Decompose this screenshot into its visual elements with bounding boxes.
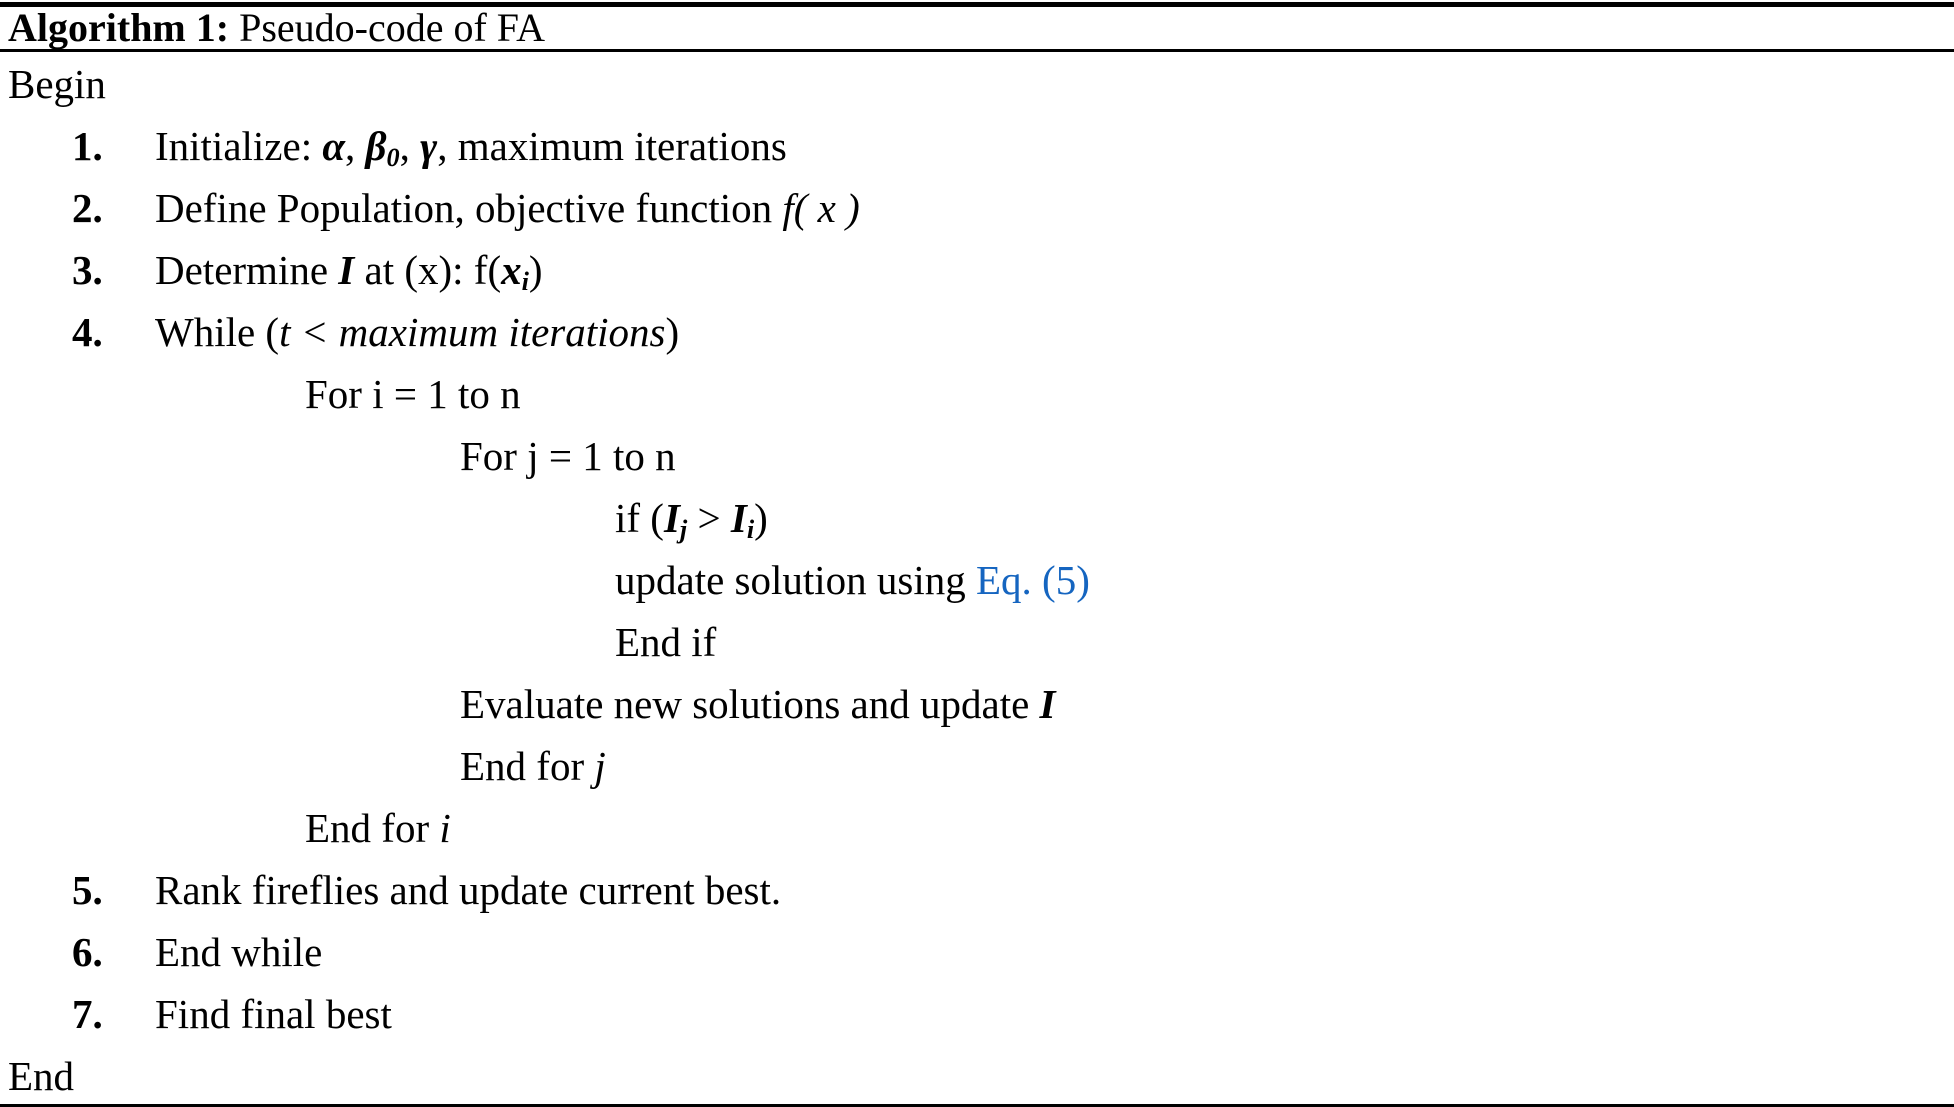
line-evaluate-solutions: Evaluate new solutions and update I <box>460 678 1056 730</box>
determine-close-text: ) <box>529 247 543 293</box>
line-end: End <box>8 1050 74 1102</box>
line-step-7: Find final best <box>155 988 392 1040</box>
line-end-if: End if <box>615 616 716 668</box>
symbol-beta: β <box>366 123 387 169</box>
line-step-6: End while <box>155 926 322 978</box>
line-end-for-j: End for j <box>460 740 606 792</box>
equation-5-link[interactable]: Eq. (5) <box>976 557 1090 603</box>
line-step-3: Determine I at (x): f(xi) <box>155 244 543 296</box>
init-lead-text: Initialize: <box>155 123 322 169</box>
line-step-1: Initialize: α, β0, γ, maximum iterations <box>155 120 787 172</box>
title-separator-rule <box>0 49 1954 52</box>
greater-than-operator: > <box>687 495 731 541</box>
step-number-4: 4. <box>72 306 103 358</box>
line-begin: Begin <box>8 58 106 110</box>
algorithm-title: Algorithm 1: Pseudo-code of FA <box>8 7 545 49</box>
if-close-text: ) <box>754 495 768 541</box>
step-number-7: 7. <box>72 988 103 1040</box>
step-number-5: 5. <box>72 864 103 916</box>
while-lead-text: While ( <box>155 309 279 355</box>
line-end-for-i: End for i <box>305 802 451 854</box>
symbol-beta-subscript: 0 <box>387 143 400 172</box>
line-update-solution: update solution using Eq. (5) <box>615 554 1090 606</box>
symbol-intensity-i: I <box>731 495 747 541</box>
symbol-gamma: γ <box>420 123 437 169</box>
line-for-i: For i = 1 to n <box>305 368 521 420</box>
line-step-2: Define Population, objective function f(… <box>155 182 860 234</box>
line-step-5: Rank fireflies and update current best. <box>155 864 781 916</box>
algorithm-title-label: Algorithm 1: <box>8 5 229 50</box>
symbol-x-3: x <box>501 247 522 293</box>
while-condition-text: t < maximum iterations <box>279 309 665 355</box>
evaluate-lead-text: Evaluate new solutions and update <box>460 681 1040 727</box>
algorithm-block: Algorithm 1: Pseudo-code of FA Begin 1. … <box>0 0 1954 983</box>
algorithm-title-text: Pseudo-code of FA <box>229 5 545 50</box>
step-number-1: 1. <box>72 120 103 172</box>
symbol-x-subscript-i: i <box>522 267 529 296</box>
init-tail-text: , maximum iterations <box>437 123 787 169</box>
step-number-3: 3. <box>72 244 103 296</box>
end-for-lead-i: End for <box>305 805 439 851</box>
update-lead-text: update solution using <box>615 557 976 603</box>
symbol-intensity-3: I <box>338 247 354 293</box>
symbol-index-j: j <box>594 743 605 789</box>
determine-mid-text: at (x): f( <box>354 247 501 293</box>
symbol-alpha: α <box>322 123 345 169</box>
symbol-intensity-subscript-i: i <box>747 515 754 544</box>
line-for-j: For j = 1 to n <box>460 430 676 482</box>
step-number-6: 6. <box>72 926 103 978</box>
symbol-intensity-eval: I <box>1040 681 1056 727</box>
line-step-4: While (t < maximum iterations) <box>155 306 679 358</box>
line-if-condition: if (Ij > Ii) <box>615 492 768 544</box>
objective-function-symbol: f( x ) <box>782 185 859 231</box>
step-number-2: 2. <box>72 182 103 234</box>
while-close-text: ) <box>666 309 680 355</box>
symbol-index-i: i <box>439 805 450 851</box>
sep-2: , <box>400 123 421 169</box>
if-open-text: if ( <box>615 495 664 541</box>
sep-1: , <box>345 123 366 169</box>
determine-lead-text: Determine <box>155 247 338 293</box>
symbol-intensity-j: I <box>664 495 680 541</box>
define-lead-text: Define Population, objective function <box>155 185 782 231</box>
end-for-lead-j: End for <box>460 743 594 789</box>
